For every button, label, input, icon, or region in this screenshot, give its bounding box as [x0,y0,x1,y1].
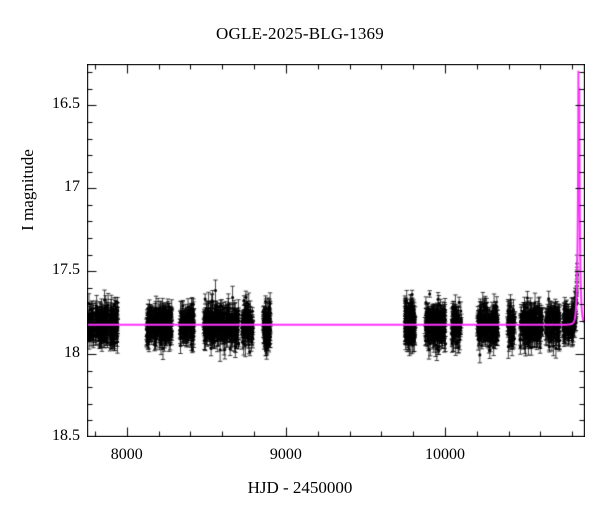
light-curve-canvas [87,64,585,437]
x-tick-label: 9000 [241,446,331,464]
x-axis-label: HJD - 2450000 [0,478,600,498]
x-tick-label: 10000 [400,446,490,464]
x-axis-tick-labels: 8000900010000 [0,446,600,470]
plot-area [87,64,585,437]
x-tick-label: 8000 [82,446,172,464]
y-axis-tick-labels: 16.51717.51818.5 [18,0,80,512]
y-tick-label: 17 [20,178,80,196]
y-tick-label: 16.5 [20,95,80,113]
light-curve-figure: OGLE-2025-BLG-1369 I magnitude HJD - 245… [0,0,600,512]
y-tick-label: 17.5 [20,261,80,279]
y-tick-label: 18 [20,344,80,362]
y-tick-label: 18.5 [20,427,80,445]
page-title: OGLE-2025-BLG-1369 [0,24,600,44]
